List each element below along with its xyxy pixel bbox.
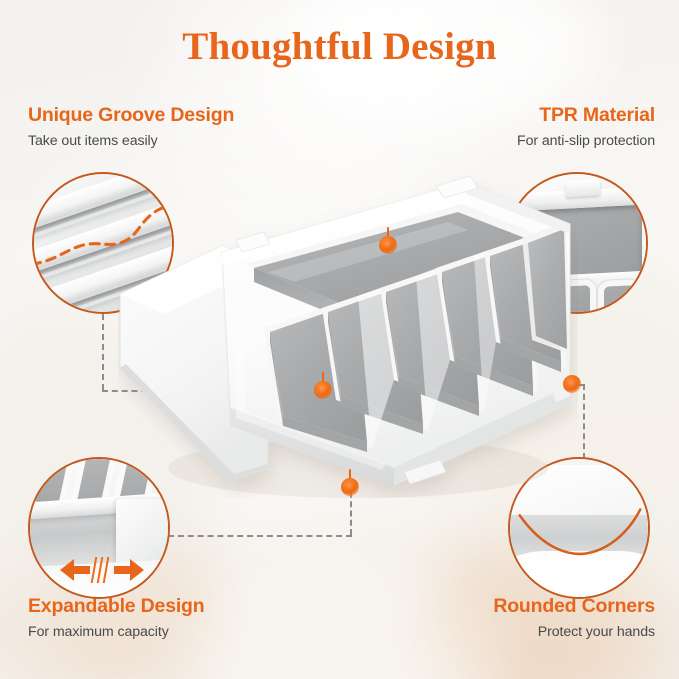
- feature-subtext-groove: Take out items easily: [28, 133, 328, 150]
- marker-core: [345, 482, 355, 492]
- feature-caption-groove: Unique Groove Design Take out items easi…: [28, 104, 328, 150]
- feature-caption-expandable: Expandable Design For maximum capacity: [28, 595, 328, 641]
- marker-expandable[interactable]: Expandable design callout point: [341, 478, 359, 496]
- marker-label: TPR material callout point: [379, 236, 380, 237]
- tray-illustration: [118, 168, 578, 498]
- marker-groove[interactable]: Groove design callout point: [314, 381, 332, 399]
- connector-segment: [168, 535, 352, 537]
- feature-subtext-tpr: For anti-slip protection: [335, 133, 655, 150]
- marker-label: Expandable design callout point: [341, 478, 342, 479]
- connector-segment: [583, 384, 585, 459]
- product-infographic-poster: Thoughtful Design Unique Groove Design T…: [0, 0, 679, 679]
- marker-label: Groove design callout point: [314, 381, 315, 382]
- feature-heading-rounded: Rounded Corners: [335, 595, 655, 617]
- feature-subtext-rounded: Protect your hands: [335, 624, 655, 641]
- connector-segment: [350, 492, 352, 535]
- marker-label: Rounded corners callout point: [563, 375, 564, 376]
- marker-tpr[interactable]: TPR material callout point: [379, 236, 397, 254]
- connector-segment: [102, 314, 104, 390]
- marker-core: [567, 379, 577, 389]
- product-image-cutlery-tray: [118, 168, 578, 498]
- feature-heading-tpr: TPR Material: [335, 104, 655, 126]
- feature-caption-rounded: Rounded Corners Protect your hands: [335, 595, 655, 641]
- marker-core: [383, 240, 393, 250]
- page-title: Thoughtful Design: [0, 24, 679, 69]
- expansion-ticks-icon: [93, 557, 111, 583]
- feature-heading-expandable: Expandable Design: [28, 595, 328, 617]
- marker-core: [318, 385, 328, 395]
- feature-caption-tpr: TPR Material For anti-slip protection: [335, 104, 655, 150]
- feature-heading-groove: Unique Groove Design: [28, 104, 328, 126]
- feature-subtext-expandable: For maximum capacity: [28, 624, 328, 641]
- marker-rounded[interactable]: Rounded corners callout point: [563, 375, 581, 393]
